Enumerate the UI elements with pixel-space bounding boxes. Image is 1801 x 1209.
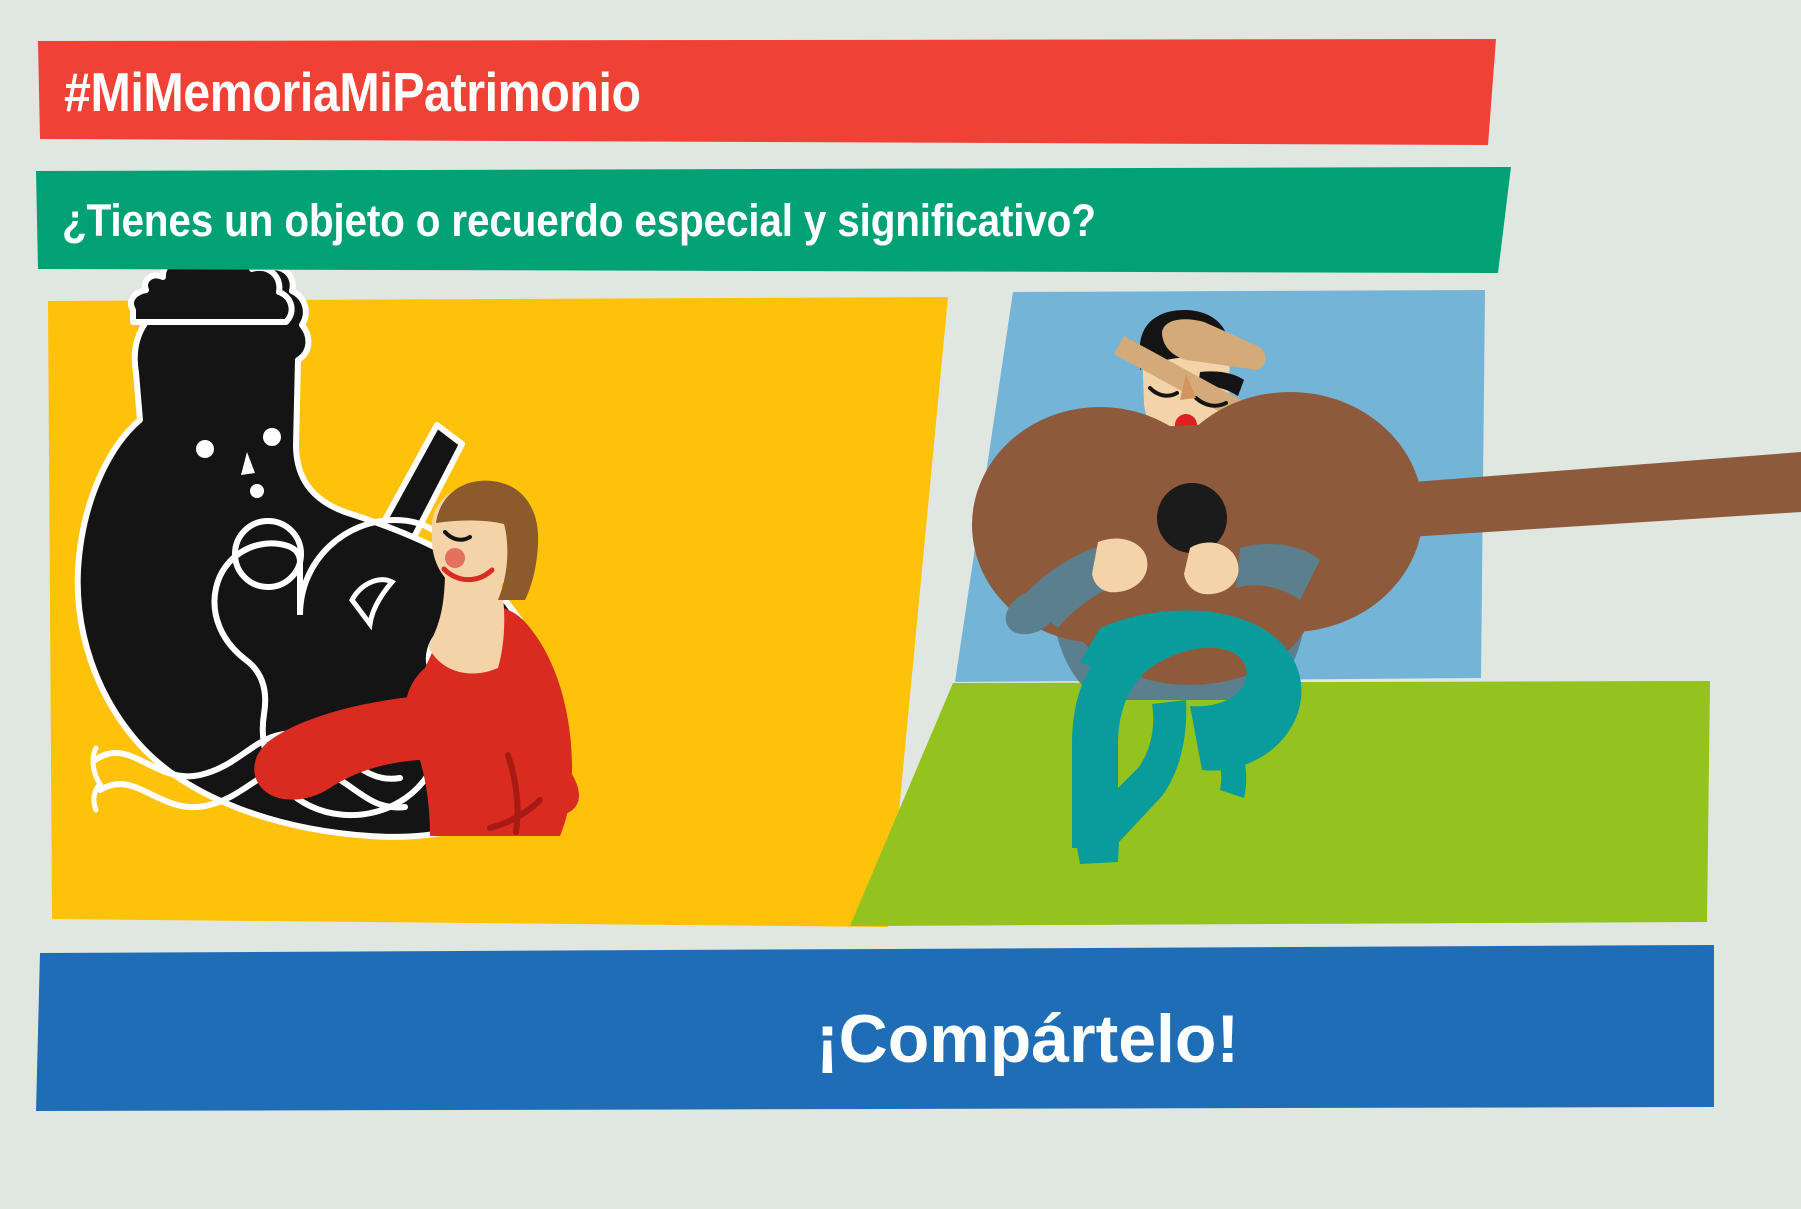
hashtag-banner: #MiMemoriaMiPatrimonio [38,39,1496,145]
question-banner-label: ¿Tienes un objeto o recuerdo especial y … [62,198,1096,243]
question-banner: ¿Tienes un objeto o recuerdo especial y … [36,167,1511,273]
grass-block [850,681,1713,926]
poster-canvas: #MiMemoriaMiPatrimonio ¿Tienes un objeto… [0,0,1801,1209]
call-to-action-label: ¡Compártelo! [816,1005,1239,1073]
call-to-action-banner: ¡Compártelo! [36,945,1714,1111]
hashtag-banner-label: #MiMemoriaMiPatrimonio [64,65,641,120]
yellow-block [48,297,953,927]
sky-block [955,290,1485,682]
